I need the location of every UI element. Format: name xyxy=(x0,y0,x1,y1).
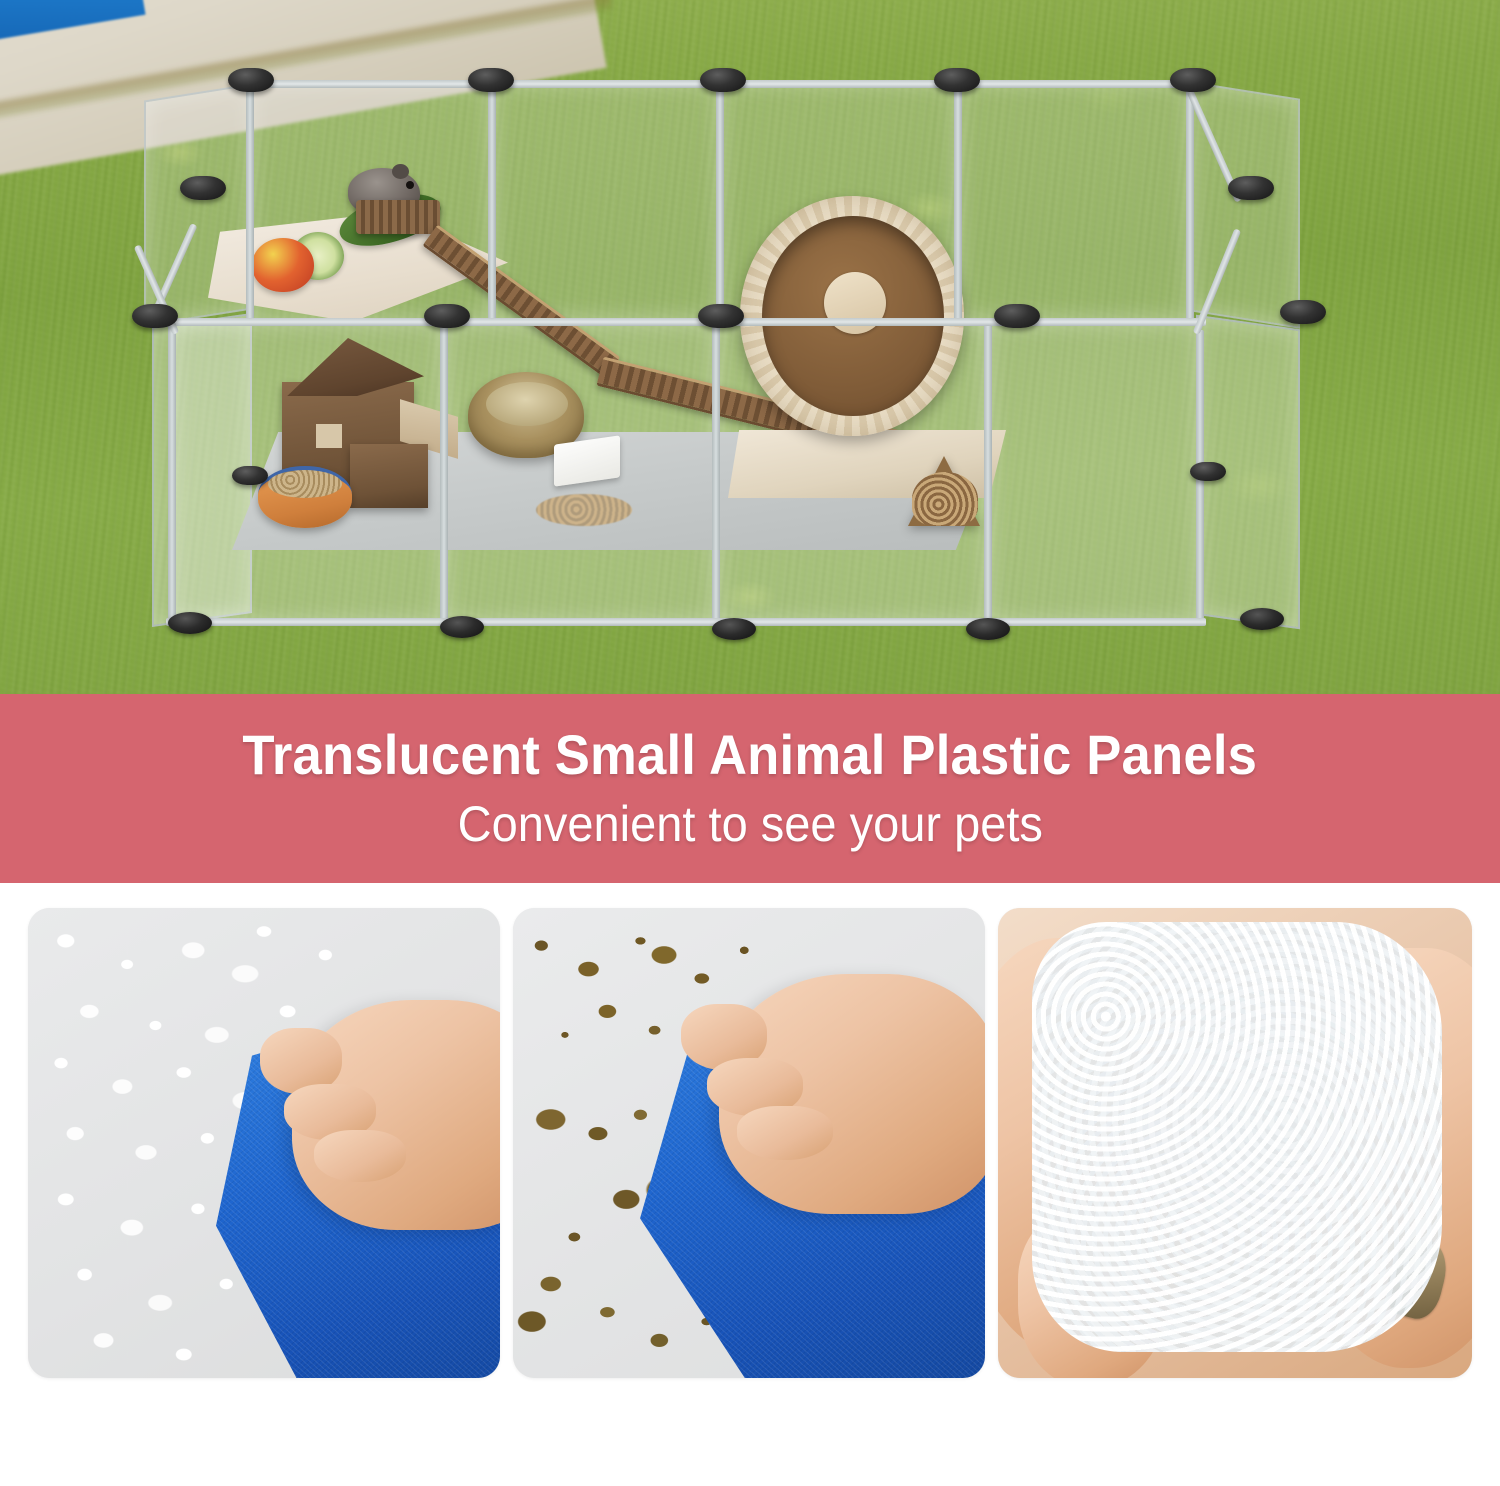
pen-post-back-5 xyxy=(1186,84,1194,322)
pen-panel-front-4 xyxy=(988,322,1200,622)
connector-joint xyxy=(994,304,1040,328)
hero-product-photo xyxy=(0,0,1500,694)
banner-title: Translucent Small Animal Plastic Panels xyxy=(243,725,1258,784)
connector-joint xyxy=(700,68,746,92)
feature-card-easy-to-clean xyxy=(513,908,985,1378)
pen-rail-bottom-front xyxy=(166,618,1206,626)
seed-pile xyxy=(536,494,632,526)
connector-joint xyxy=(228,68,274,92)
pen-post-mid-1 xyxy=(440,322,448,624)
wooden-house-ramp xyxy=(350,444,428,508)
plastic-pellets xyxy=(1032,922,1442,1352)
connector-joint xyxy=(698,304,744,328)
feature-row: Waterproof Easy to clean Plastic xyxy=(0,883,1500,1486)
connector-joint xyxy=(424,304,470,328)
pen-panel-right-upper xyxy=(1190,81,1300,328)
pen-post-back-4 xyxy=(954,84,962,324)
connector-joint xyxy=(1228,176,1274,200)
feature-card-plastic xyxy=(998,908,1472,1378)
panel-clip xyxy=(232,466,268,485)
connector-foot xyxy=(440,616,484,638)
pen-panel-top-2 xyxy=(492,82,720,320)
headline-banner: Translucent Small Animal Plastic Panels … xyxy=(0,694,1500,883)
feature-card-waterproof xyxy=(28,908,500,1378)
pen-post-mid-2 xyxy=(712,322,720,624)
finger xyxy=(314,1130,406,1182)
product-marketing-image: Translucent Small Animal Plastic Panels … xyxy=(0,0,1500,1486)
connector-joint xyxy=(1280,300,1326,324)
connector-foot xyxy=(712,618,756,640)
playpen-assembly xyxy=(0,0,1500,694)
pen-post-left-front xyxy=(168,322,176,624)
pen-post-back-1 xyxy=(246,84,254,324)
connector-joint xyxy=(180,176,226,200)
hamster-ear xyxy=(392,164,409,179)
connector-foot xyxy=(168,612,212,634)
connector-joint xyxy=(1170,68,1216,92)
pen-post-mid-3 xyxy=(984,322,992,624)
hamster-eye xyxy=(406,181,414,189)
connector-foot xyxy=(1240,608,1284,630)
wooden-house-window xyxy=(316,424,342,448)
apple xyxy=(252,238,314,292)
seed-treat-texture xyxy=(912,472,978,526)
pen-post-back-2 xyxy=(488,84,496,324)
nest-hay xyxy=(486,382,568,426)
bowl-seeds xyxy=(268,470,342,498)
pen-post-back-3 xyxy=(716,84,724,324)
connector-joint xyxy=(934,68,980,92)
finger xyxy=(737,1106,833,1160)
banner-subtitle: Convenient to see your pets xyxy=(457,797,1042,852)
connector-joint xyxy=(132,304,178,328)
pen-rail-mid-front xyxy=(160,318,1206,326)
pen-panel-top-4 xyxy=(958,82,1190,320)
hamster-perch-log xyxy=(356,200,440,234)
connector-foot xyxy=(966,618,1010,640)
panel-clip xyxy=(1190,462,1226,481)
connector-joint xyxy=(468,68,514,92)
